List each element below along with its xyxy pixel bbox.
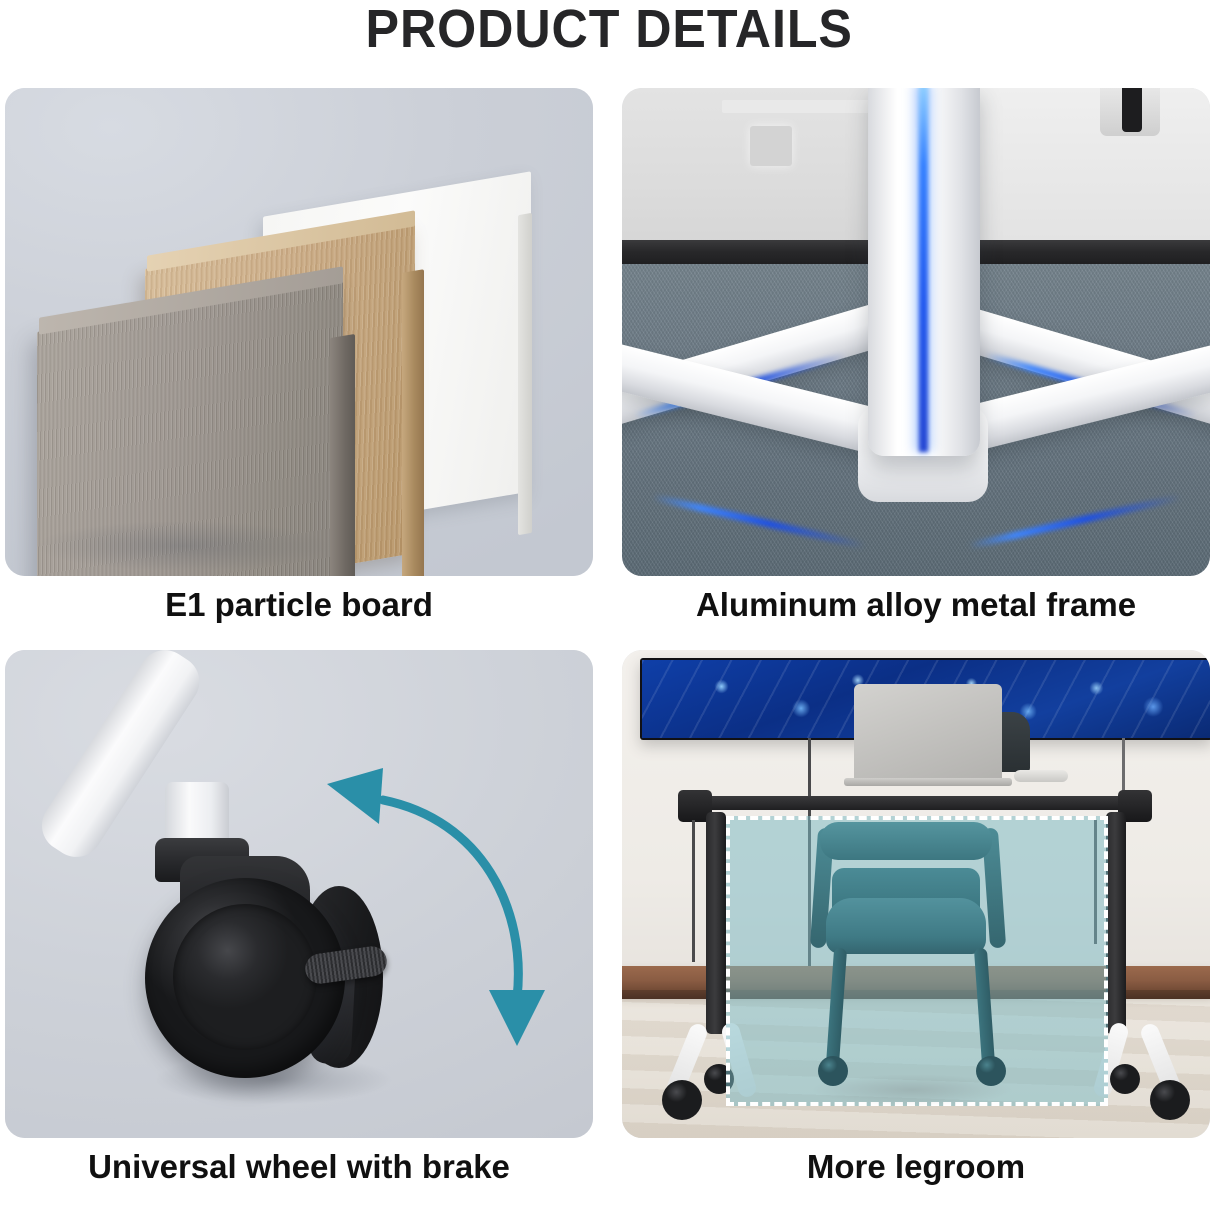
- desk-clip-pad: [1122, 88, 1142, 132]
- feature-card-particle-board: E1 particle board: [5, 88, 593, 576]
- white-board-edge: [518, 213, 532, 535]
- feature-grid: E1 particle board: [5, 88, 1210, 1200]
- desk-caster-right-inner: [1110, 1064, 1140, 1094]
- chair-seat: [826, 898, 986, 954]
- desk-post-right: [1106, 812, 1126, 1034]
- laptop-lid: [854, 684, 1002, 782]
- mouse: [1014, 770, 1068, 782]
- board-floor-shadow: [15, 522, 435, 576]
- chair-caster-left: [818, 1056, 848, 1086]
- caption-more-legroom: More legroom: [622, 1145, 1210, 1189]
- caster-wheel-hub: [173, 904, 317, 1050]
- desk-support-rail: [678, 796, 1148, 810]
- feature-card-metal-frame: Aluminum alloy metal frame: [622, 88, 1210, 576]
- feature-card-more-legroom: More legroom: [622, 650, 1210, 1138]
- chair-caster-right: [976, 1056, 1006, 1086]
- feature-card-universal-wheel: Universal wheel with brake: [5, 650, 593, 1138]
- product-details-infographic: PRODUCT DETAILS E1 particle board: [0, 0, 1215, 1205]
- desk-caster-right-outer: [1150, 1080, 1190, 1120]
- desk-caster-left-outer: [662, 1080, 702, 1120]
- caption-metal-frame: Aluminum alloy metal frame: [622, 583, 1210, 627]
- desk-post-left: [706, 812, 726, 1034]
- page-title: PRODUCT DETAILS: [44, 0, 1174, 60]
- metal-frame-photo: [622, 88, 1210, 576]
- wall-fixture-left: [750, 126, 792, 166]
- particle-board-photo: [5, 88, 593, 576]
- column-glow-line: [919, 88, 928, 452]
- universal-wheel-photo: [5, 650, 593, 1138]
- curved-double-arrow-icon: [321, 762, 561, 1052]
- more-legroom-photo: [622, 650, 1210, 1138]
- caption-universal-wheel: Universal wheel with brake: [5, 1145, 593, 1189]
- chair-headrest: [820, 822, 992, 860]
- laptop-base: [844, 778, 1012, 786]
- chair-floor-shadow: [772, 1070, 1052, 1110]
- desk-rod-left: [692, 820, 695, 962]
- caption-particle-board: E1 particle board: [5, 583, 593, 627]
